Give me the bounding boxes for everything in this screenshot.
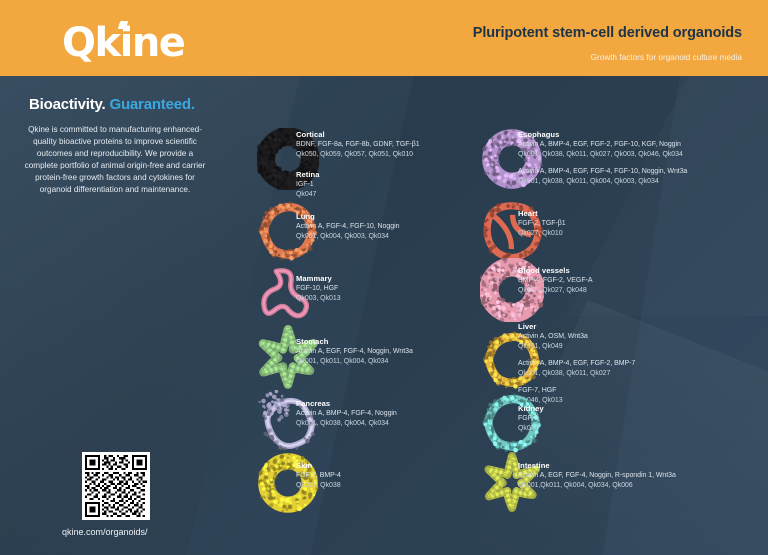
organoid-entry-esophagus: EsophagusActivin A, BMP-4, EGF, FGF-2, F… [518, 130, 768, 186]
product-code-list[interactable]: Qk027, Qk038 [296, 481, 481, 491]
organoid-entry-lung: LungActivin A, FGF-4, FGF-10, NogginQk00… [296, 212, 481, 241]
product-code-list[interactable]: Qk027, Qk010 [518, 229, 768, 239]
product-code-list[interactable]: Qk001, Qk038, Qk011, Qk004, Qk003, Qk034 [518, 177, 768, 187]
intro-paragraph: Qkine is committed to manufacturing enha… [22, 124, 208, 196]
organoid-product-block: Activin A, BMP-4, EGF, FGF-4, FGF-10, No… [518, 167, 768, 186]
product-code-list[interactable]: Qk001, Qk049 [518, 342, 768, 352]
poster-canvas: Qkine Pluripotent stem-cell derived orga… [0, 0, 768, 555]
growth-factor-list: BMP-4, FGF-2, VEGF-A [518, 276, 768, 286]
organoids-url[interactable]: qkine.com/organoids/ [62, 527, 148, 537]
page-subtitle: Growth factors for organoid culture medi… [591, 53, 742, 62]
growth-factor-list: FGF-9 [518, 414, 768, 424]
organoid-name: Intestine [518, 461, 768, 470]
organoid-entry-stomach: StomachActivin A, EGF, FGF-4, Noggin, Wn… [296, 337, 481, 366]
organoid-product-block: BDNF, FGF-8a, FGF-8b, GDNF, TGF-β1Qk050,… [296, 140, 481, 159]
organoid-product-block: Activin A, BMP-4, EGF, FGF-2, BMP-7Qk001… [518, 359, 768, 378]
product-code-list[interactable]: Qk001, Qk038, Qk011, Qk027, Qk003, Qk046… [518, 150, 768, 160]
product-code-list[interactable]: Qk038, Qk027, Qk048 [518, 286, 768, 296]
organoid-name: Cortical [296, 130, 481, 139]
organoid-name: Skin [296, 461, 481, 470]
organoid-entry-pancreas: PancreasActivin A, BMP-4, FGF-4, NogginQ… [296, 399, 481, 428]
organoid-name: Mammary [296, 274, 481, 283]
organoid-product-block: FGF-2, BMP-4Qk027, Qk038 [296, 471, 481, 490]
growth-factor-list: Activin A, EGF, FGF-4, Noggin, R-spondin… [518, 471, 768, 481]
organoid-name: Retina [296, 170, 481, 179]
product-code-list[interactable]: Qk050, Qk059, Qk057, Qk051, Qk010 [296, 150, 481, 160]
organoid-name: Esophagus [518, 130, 768, 139]
page-header: Qkine Pluripotent stem-cell derived orga… [0, 0, 768, 76]
organoid-name: Liver [518, 322, 768, 331]
organoid-entry-kidney: KidneyFGF-9Qk039 [518, 404, 768, 433]
organoid-product-block: IGF-1Qk047 [296, 180, 481, 199]
organoid-name: Kidney [518, 404, 768, 413]
organoid-name: Stomach [296, 337, 481, 346]
organoid-product-block: Activin A, FGF-4, FGF-10, NogginQk001, Q… [296, 222, 481, 241]
organoid-entry-liver: LiverActivin A, OSM, Wnt3aQk001, Qk049Ac… [518, 322, 768, 405]
product-code-list[interactable]: Qk047 [296, 190, 481, 200]
product-code-list[interactable]: Qk003, Qk013 [296, 294, 481, 304]
organoid-product-block: FGF-2, TGF-β1Qk027, Qk010 [518, 219, 768, 238]
product-code-list[interactable]: Qk001, Qk011, Qk004, Qk034 [296, 357, 481, 367]
organoid-product-block: Activin A, EGF, FGF-4, Noggin, Wnt3aQk00… [296, 347, 481, 366]
organoid-product-block: Activin A, BMP-4, FGF-4, NogginQk001, Qk… [296, 409, 481, 428]
organoid-name: Heart [518, 209, 768, 218]
organoid-product-block: Activin A, OSM, Wnt3aQk001, Qk049 [518, 332, 768, 351]
organoid-entry-skin: SkinFGF-2, BMP-4Qk027, Qk038 [296, 461, 481, 490]
organoid-product-block: FGF-9Qk039 [518, 414, 768, 433]
organoid-entry-mammary: MammaryFGF-10, HGFQk003, Qk013 [296, 274, 481, 303]
organoid-name: Pancreas [296, 399, 481, 408]
bioactivity-heading: Bioactivity. Guaranteed. [29, 96, 195, 113]
growth-factor-list: Activin A, EGF, FGF-4, Noggin, Wnt3a [296, 347, 481, 357]
organoid-product-block: Activin A, BMP-4, EGF, FGF-2, FGF-10, KG… [518, 140, 768, 159]
product-code-list[interactable]: Qk001,Qk011, Qk004, Qk034, Qk006 [518, 481, 768, 491]
growth-factor-list: FGF-2, TGF-β1 [518, 219, 768, 229]
product-code-list[interactable]: Qk001, Qk038, Qk004, Qk034 [296, 419, 481, 429]
organoid-entry-heart: HeartFGF-2, TGF-β1Qk027, Qk010 [518, 209, 768, 238]
bioactivity-heading-part2: Guaranteed. [109, 96, 194, 113]
organoid-entry-cortical: CorticalBDNF, FGF-8a, FGF-8b, GDNF, TGF-… [296, 130, 481, 159]
organoid-product-block: FGF-10, HGFQk003, Qk013 [296, 284, 481, 303]
qr-code-graphic [85, 455, 147, 517]
growth-factor-list: Activin A, BMP-4, EGF, FGF-2, BMP-7 [518, 359, 768, 369]
organoid-product-block: FGF-7, HGFQk046, Qk013 [518, 386, 768, 405]
growth-factor-list: Activin A, FGF-4, FGF-10, Noggin [296, 222, 481, 232]
growth-factor-list: FGF-2, BMP-4 [296, 471, 481, 481]
growth-factor-list: Activin A, BMP-4, FGF-4, Noggin [296, 409, 481, 419]
organoid-entry-blood-vessels: Blood vesselsBMP-4, FGF-2, VEGF-AQk038, … [518, 266, 768, 295]
organoid-name: Lung [296, 212, 481, 221]
growth-factor-list: BDNF, FGF-8a, FGF-8b, GDNF, TGF-β1 [296, 140, 481, 150]
growth-factor-list: FGF-10, HGF [296, 284, 481, 294]
qkine-logo[interactable]: Qkine [62, 23, 184, 63]
product-code-list[interactable]: Qk039 [518, 424, 768, 434]
organoid-entry-intestine: IntestineActivin A, EGF, FGF-4, Noggin, … [518, 461, 768, 490]
growth-factor-list: Activin A, BMP-4, EGF, FGF-2, FGF-10, KG… [518, 140, 768, 150]
organoid-product-block: BMP-4, FGF-2, VEGF-AQk038, Qk027, Qk048 [518, 276, 768, 295]
growth-factor-list: FGF-7, HGF [518, 386, 768, 396]
qr-code-icon[interactable] [82, 452, 150, 520]
growth-factor-list: Activin A, OSM, Wnt3a [518, 332, 768, 342]
page-title: Pluripotent stem-cell derived organoids [473, 25, 742, 41]
product-code-list[interactable]: Qk001, Qk004, Qk003, Qk034 [296, 232, 481, 242]
growth-factor-list: IGF-1 [296, 180, 481, 190]
organoid-entry-retina: RetinaIGF-1Qk047 [296, 170, 481, 199]
product-code-list[interactable]: Qk001, Qk038, Qk011, Qk027 [518, 369, 768, 379]
organoid-name: Blood vessels [518, 266, 768, 275]
growth-factor-list: Activin A, BMP-4, EGF, FGF-4, FGF-10, No… [518, 167, 768, 177]
bioactivity-heading-part1: Bioactivity. [29, 96, 106, 113]
organoid-product-block: Activin A, EGF, FGF-4, Noggin, R-spondin… [518, 471, 768, 490]
